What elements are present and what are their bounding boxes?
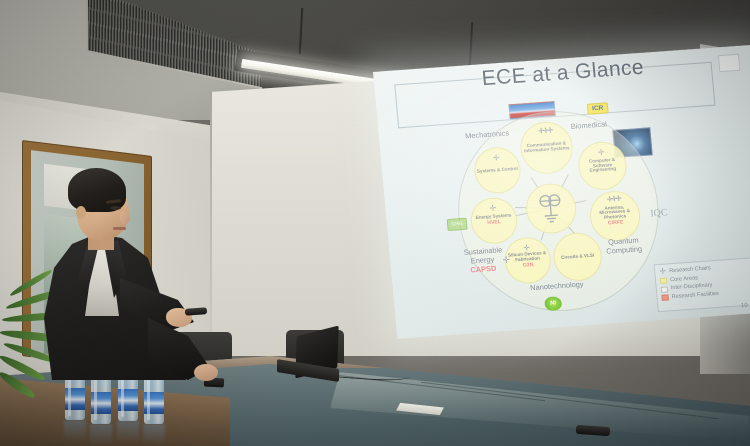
bottle-reflection [90, 424, 112, 446]
legend: ✛ Research Chairs Core Areas Inter-Disci… [654, 257, 750, 312]
research-chair-icon: ✛ [489, 205, 496, 213]
mouth [113, 227, 126, 230]
presentation-photo-scene: ECE at a Glance [0, 0, 750, 446]
projection-screen: ECE at a Glance [373, 45, 750, 339]
slide-ece-at-a-glance: ECE at a Glance [373, 45, 750, 339]
core-area-swatch-icon [660, 277, 668, 283]
badge-green-left[interactable]: GHG [447, 218, 468, 231]
hand [194, 364, 218, 381]
node-code: HVEL [487, 220, 501, 226]
legend-label: Research Facilities [671, 290, 719, 302]
node-code: G2N [523, 263, 534, 269]
research-chair-icon: ✛ [493, 154, 500, 162]
presenter [44, 168, 196, 380]
research-chair-icon: ✛ [502, 255, 511, 266]
research-chair-icon: ✛ [523, 244, 530, 252]
bottle-reflection [117, 421, 139, 443]
research-chair-icon: ✛ [598, 149, 605, 157]
research-chair-icon: ✛ [659, 269, 667, 275]
outer-label-sustainable-energy: Sustainable Energy CAPSD [463, 245, 501, 274]
research-facility-swatch-icon [661, 295, 669, 301]
bottle-reflection [143, 424, 165, 446]
sustainable-energy-text: Sustainable Energy [463, 245, 502, 265]
outer-label-quantum-computing: Quantum Computing [603, 235, 645, 256]
badge-icr[interactable]: ICR [587, 102, 609, 114]
slide-page-number: 10 [741, 303, 748, 309]
eye [110, 206, 121, 210]
inter-disciplinary-swatch-icon [661, 286, 669, 292]
slide-logo-placeholder [718, 54, 740, 72]
node-code: CIRFE [608, 220, 624, 227]
nose [120, 211, 130, 224]
wall-corner [210, 92, 212, 360]
research-chairs-icon: ✛✛✛ [607, 196, 621, 204]
ear [76, 206, 86, 219]
badge-iqc[interactable]: IQC [645, 206, 672, 220]
research-chairs-icon: ✛✛✛ [538, 127, 552, 135]
